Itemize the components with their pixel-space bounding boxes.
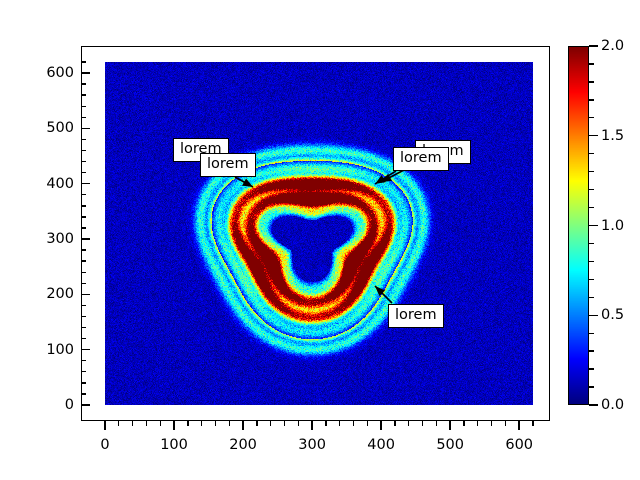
colorbar-tick-label: 0.5 bbox=[601, 307, 624, 323]
y-axis-tick-label: 500 bbox=[46, 120, 74, 136]
annotation-label-4[interactable]: lorem bbox=[393, 147, 449, 171]
y-axis-major-tick bbox=[81, 349, 90, 350]
colorbar-major-tick bbox=[589, 45, 598, 46]
x-axis-minor-tick bbox=[201, 421, 202, 426]
heatmap-image bbox=[105, 62, 533, 405]
x-axis-minor-tick bbox=[298, 421, 299, 426]
colorbar-tick-label: 1.0 bbox=[601, 218, 624, 234]
y-axis-minor-tick bbox=[81, 216, 86, 217]
colorbar-tick-label: 0.0 bbox=[601, 397, 624, 413]
y-axis-major-tick bbox=[81, 294, 90, 295]
colorbar-minor-tick bbox=[589, 368, 594, 369]
colorbar-minor-tick bbox=[589, 153, 594, 154]
y-axis-tick-label: 300 bbox=[46, 231, 74, 247]
colorbar-minor-tick bbox=[589, 386, 594, 387]
x-axis-tick-label: 600 bbox=[505, 437, 533, 453]
x-axis-minor-tick bbox=[215, 421, 216, 426]
x-axis-minor-tick bbox=[187, 421, 188, 426]
y-axis-tick-label: 100 bbox=[46, 342, 74, 358]
colorbar-major-tick bbox=[589, 135, 598, 136]
y-axis-minor-tick bbox=[81, 83, 86, 84]
colorbar-major-tick bbox=[589, 225, 598, 226]
x-axis-major-tick bbox=[173, 421, 174, 430]
x-axis-tick-label: 200 bbox=[229, 437, 257, 453]
x-axis-minor-tick bbox=[505, 421, 506, 426]
colorbar-minor-tick bbox=[589, 99, 594, 100]
x-axis-minor-tick bbox=[353, 421, 354, 426]
colorbar-tick-label: 1.5 bbox=[601, 128, 624, 144]
x-axis-minor-tick bbox=[422, 421, 423, 426]
y-axis-major-tick bbox=[81, 183, 90, 184]
y-axis-major-tick bbox=[81, 404, 90, 405]
x-axis-minor-tick bbox=[118, 421, 119, 426]
y-axis-minor-tick bbox=[81, 172, 86, 173]
y-axis-minor-tick bbox=[81, 117, 86, 118]
x-axis-minor-tick bbox=[408, 421, 409, 426]
y-axis-minor-tick bbox=[81, 283, 86, 284]
colorbar-tick-label: 2.0 bbox=[601, 38, 624, 54]
y-axis-major-tick bbox=[81, 72, 90, 73]
x-axis-minor-tick bbox=[367, 421, 368, 426]
x-axis-minor-tick bbox=[477, 421, 478, 426]
y-axis-tick-label: 200 bbox=[46, 286, 74, 302]
colorbar-gradient bbox=[569, 47, 588, 404]
y-axis-minor-tick bbox=[81, 150, 86, 151]
x-axis-tick-label: 500 bbox=[436, 437, 464, 453]
y-axis-minor-tick bbox=[81, 382, 86, 383]
y-axis-tick-label: 0 bbox=[65, 397, 74, 413]
x-axis-minor-tick bbox=[325, 421, 326, 426]
x-axis-major-tick bbox=[104, 421, 105, 430]
x-axis-minor-tick bbox=[491, 421, 492, 426]
x-axis-minor-tick bbox=[132, 421, 133, 426]
y-axis-minor-tick bbox=[81, 94, 86, 95]
x-axis-tick-label: 100 bbox=[160, 437, 188, 453]
colorbar-minor-tick bbox=[589, 261, 594, 262]
y-axis-tick-label: 600 bbox=[46, 65, 74, 81]
colorbar-minor-tick bbox=[589, 333, 594, 334]
figure-canvas: 01002003004005006000100200300400500600 0… bbox=[0, 0, 640, 480]
colorbar-minor-tick bbox=[589, 279, 594, 280]
y-axis-major-tick bbox=[81, 128, 90, 129]
x-axis-tick-label: 300 bbox=[298, 437, 326, 453]
x-axis-minor-tick bbox=[256, 421, 257, 426]
x-axis-minor-tick bbox=[284, 421, 285, 426]
y-axis-minor-tick bbox=[81, 316, 86, 317]
y-axis-minor-tick bbox=[81, 393, 86, 394]
x-axis-tick-label: 0 bbox=[100, 437, 109, 453]
x-axis-minor-tick bbox=[270, 421, 271, 426]
colorbar-major-tick bbox=[589, 404, 598, 405]
y-axis-minor-tick bbox=[81, 371, 86, 372]
x-axis-major-tick bbox=[242, 421, 243, 430]
x-axis-major-tick bbox=[449, 421, 450, 430]
colorbar-minor-tick bbox=[589, 207, 594, 208]
annotation-label-5[interactable]: lorem bbox=[388, 304, 444, 328]
y-axis-minor-tick bbox=[81, 194, 86, 195]
colorbar-minor-tick bbox=[589, 117, 594, 118]
colorbar-major-tick bbox=[589, 315, 598, 316]
colorbar-minor-tick bbox=[589, 297, 594, 298]
colorbar-minor-tick bbox=[589, 189, 594, 190]
y-axis-minor-tick bbox=[81, 227, 86, 228]
y-axis-major-tick bbox=[81, 238, 90, 239]
colorbar-minor-tick bbox=[589, 81, 594, 82]
colorbar-minor-tick bbox=[589, 243, 594, 244]
x-axis-minor-tick bbox=[394, 421, 395, 426]
x-axis-minor-tick bbox=[160, 421, 161, 426]
x-axis-minor-tick bbox=[436, 421, 437, 426]
y-axis-minor-tick bbox=[81, 106, 86, 107]
y-axis-minor-tick bbox=[81, 305, 86, 306]
x-axis-major-tick bbox=[518, 421, 519, 430]
colorbar-minor-tick bbox=[589, 350, 594, 351]
x-axis-major-tick bbox=[311, 421, 312, 430]
y-axis-minor-tick bbox=[81, 260, 86, 261]
y-axis-minor-tick bbox=[81, 205, 86, 206]
y-axis-minor-tick bbox=[81, 161, 86, 162]
x-axis-minor-tick bbox=[463, 421, 464, 426]
y-axis-minor-tick bbox=[81, 272, 86, 273]
y-axis-minor-tick bbox=[81, 327, 86, 328]
y-axis-tick-label: 400 bbox=[46, 176, 74, 192]
colorbar bbox=[568, 46, 589, 405]
x-axis-major-tick bbox=[380, 421, 381, 430]
y-axis-minor-tick bbox=[81, 61, 86, 62]
x-axis-minor-tick bbox=[229, 421, 230, 426]
y-axis-minor-tick bbox=[81, 360, 86, 361]
annotation-label-2[interactable]: lorem bbox=[200, 153, 256, 177]
colorbar-minor-tick bbox=[589, 171, 594, 172]
x-axis-minor-tick bbox=[339, 421, 340, 426]
colorbar-minor-tick bbox=[589, 63, 594, 64]
y-axis-minor-tick bbox=[81, 139, 86, 140]
x-axis-minor-tick bbox=[146, 421, 147, 426]
x-axis-minor-tick bbox=[532, 421, 533, 426]
x-axis-tick-label: 400 bbox=[367, 437, 395, 453]
y-axis-minor-tick bbox=[81, 249, 86, 250]
y-axis-minor-tick bbox=[81, 338, 86, 339]
